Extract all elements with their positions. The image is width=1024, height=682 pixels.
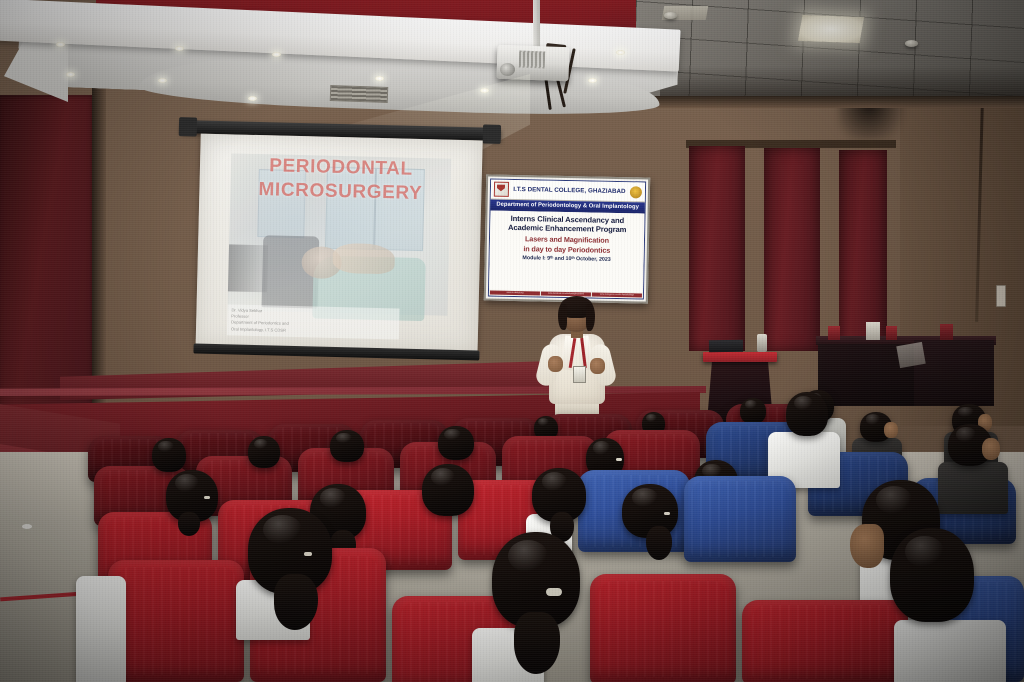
ceiling-wall-seam	[636, 96, 1024, 108]
audience-member	[622, 484, 698, 560]
banner-inner-frame: I.T.S DENTAL COLLEGE, GHAZIABAD Departme…	[488, 179, 646, 300]
wall-light-switch[interactable]	[996, 285, 1006, 307]
audience-ponytail	[514, 612, 560, 674]
maroon-acoustic-wall-panel	[764, 148, 820, 351]
counter-item	[940, 324, 953, 340]
audience-white-coat	[894, 620, 1006, 682]
golden-emblem-icon	[630, 186, 642, 198]
floor-debris	[22, 524, 32, 529]
audience-head	[438, 426, 474, 460]
audience-ponytail	[274, 574, 318, 630]
hair-highlight	[542, 472, 567, 490]
hair-highlight	[632, 488, 658, 506]
audience-head	[422, 464, 474, 516]
audience-face	[884, 422, 898, 438]
hair-highlight	[593, 441, 610, 455]
maroon-acoustic-wall-panel	[689, 146, 745, 351]
audience-white-coat	[76, 576, 126, 682]
hair-highlight	[745, 400, 757, 409]
banner-body: Interns Clinical Ascendancy and Academic…	[489, 210, 644, 292]
screen-bracket-left	[179, 117, 197, 136]
hair-clip	[546, 588, 562, 596]
banner-footer-cell: www.instagram.com/its.dentalcollege	[592, 292, 642, 297]
audience-member	[422, 464, 488, 526]
presenter-hand	[590, 358, 605, 374]
screen-bracket-right	[483, 125, 501, 144]
maroon-acoustic-wall-panel-left	[0, 95, 96, 425]
maroon-acoustic-wall-panel	[839, 150, 887, 350]
smoke-detector	[905, 40, 918, 47]
ceiling-air-vent	[330, 85, 389, 103]
banner-subtitle-line-2: in day to day Periodontics	[492, 243, 642, 255]
seat-fabric-ribbing	[752, 605, 898, 679]
banner-footer-cell: www.facebook.com/itsdentalghaziabad	[541, 291, 591, 296]
hair-highlight	[646, 414, 657, 422]
hair-clip	[304, 552, 312, 556]
presenter-hand	[548, 356, 563, 372]
counter-item	[896, 342, 925, 368]
hair-highlight	[444, 429, 461, 441]
banner-college-name: I.T.S DENTAL COLLEGE, GHAZIABAD	[511, 186, 628, 195]
presenter-id-badge	[573, 366, 586, 383]
hair-highlight	[538, 418, 549, 426]
presenter-hair	[586, 304, 595, 331]
hair-highlight	[866, 414, 881, 424]
slide-title: PERIODONTAL MICROSURGERY	[199, 153, 482, 209]
audience-head	[740, 398, 766, 424]
podium-top-surface	[703, 352, 777, 362]
audience-head	[890, 528, 974, 622]
recessed-ceiling-spotlight	[56, 42, 65, 47]
presenter-hair	[558, 304, 567, 330]
hair-highlight	[905, 536, 944, 568]
audience-head	[152, 438, 186, 472]
hair-highlight	[263, 515, 302, 544]
projection-screen: PERIODONTAL MICROSURGERY Dr. Vidya Sekha…	[175, 120, 501, 378]
recessed-ceiling-spotlight	[248, 96, 257, 101]
recessed-ceiling-spotlight	[272, 52, 281, 57]
counter-item	[886, 326, 897, 340]
audience-ponytail	[178, 512, 200, 536]
hair-highlight	[956, 427, 976, 441]
hair-highlight	[958, 407, 974, 418]
smoke-detector	[664, 12, 677, 19]
slide-presenter-credit: Dr. Vidya Sekhar Professor Department of…	[227, 304, 399, 340]
audience-member	[880, 528, 1010, 682]
auditorium-photograph: PERIODONTAL MICROSURGERY Dr. Vidya Sekha…	[0, 0, 1024, 682]
projected-slide: PERIODONTAL MICROSURGERY Dr. Vidya Sekha…	[196, 134, 483, 353]
hair-highlight	[431, 468, 455, 486]
hair-clip	[616, 458, 622, 461]
recessed-ceiling-spotlight	[480, 88, 489, 93]
banner-module-line: Module I: 9ᵗʰ and 10ᵗʰ October, 2023	[492, 254, 642, 263]
recessed-ceiling-spotlight	[375, 76, 384, 81]
audience-head	[330, 430, 364, 462]
projector-vent	[519, 51, 546, 69]
podium-laptop	[709, 340, 743, 353]
audience-face	[982, 438, 1000, 460]
audience-head	[786, 392, 828, 436]
hair-highlight	[876, 486, 912, 513]
recessed-ceiling-spotlight	[588, 78, 597, 83]
audience-head	[248, 436, 280, 468]
hair-highlight	[254, 439, 269, 450]
blue-auditorium-seat[interactable]	[684, 476, 796, 562]
projector-mount-pole	[533, 0, 540, 52]
audience-member	[438, 426, 484, 466]
hair-highlight	[158, 441, 174, 453]
audience-hand-on-face	[850, 524, 884, 568]
audience-ponytail	[646, 526, 672, 560]
seat-backrest	[684, 476, 796, 562]
audience-member	[248, 436, 292, 474]
podium-microphone	[757, 334, 767, 352]
counter-item	[866, 322, 880, 340]
audience-member	[76, 540, 138, 682]
audience-member	[166, 470, 232, 530]
recessed-ceiling-spotlight	[616, 50, 625, 55]
seat-fabric-ribbing	[691, 481, 790, 557]
hair-clip	[664, 512, 670, 515]
audience-member	[532, 468, 604, 540]
audience-member	[248, 508, 376, 628]
hair-highlight	[175, 474, 199, 492]
recessed-ceiling-spotlight	[158, 78, 167, 83]
hair-highlight	[336, 433, 352, 444]
counter-item	[828, 326, 840, 340]
recessed-ceiling-spotlight	[66, 72, 75, 77]
its-shield-logo-icon	[494, 182, 509, 197]
recessed-ceiling-light-panel	[798, 15, 864, 43]
hair-clip	[204, 496, 210, 499]
audience-member	[330, 430, 374, 468]
hair-highlight	[508, 540, 548, 573]
projector-lens	[500, 63, 515, 76]
presenter-speaking	[527, 300, 623, 422]
audience-member	[768, 392, 842, 482]
hair-highlight	[320, 488, 346, 507]
side-cabinet	[914, 340, 994, 406]
recessed-ceiling-spotlight	[175, 46, 184, 51]
audience-member	[492, 532, 622, 682]
event-banner: I.T.S DENTAL COLLEGE, GHAZIABAD Departme…	[484, 174, 650, 303]
banner-footer-cell: www.its-dental.org	[490, 290, 540, 295]
hair-highlight	[794, 396, 813, 411]
